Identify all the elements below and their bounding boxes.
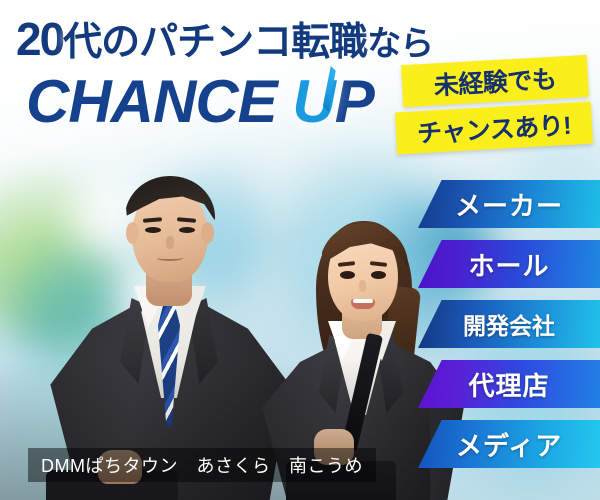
category-button-maker[interactable]: メーカー bbox=[418, 180, 600, 228]
headline-text: 20代のパチンコ転職なら bbox=[16, 16, 433, 62]
category-button-media[interactable]: メディア bbox=[418, 420, 600, 468]
logo-chance-up: CHANCE UP bbox=[26, 72, 374, 132]
badge-line-2: チャンスあり! bbox=[395, 102, 593, 155]
headline-suffix: なら bbox=[367, 25, 433, 63]
highlight-badge: 未経験でも チャンスあり! bbox=[396, 60, 592, 158]
headline-main: 代のパチンコ転職 bbox=[63, 21, 367, 64]
badge-line-1: 未経験でも bbox=[401, 55, 589, 107]
logo-letter-u: U bbox=[292, 72, 334, 132]
category-button-developer[interactable]: 開発会社 bbox=[418, 300, 600, 348]
credit-strip: DMMぱちタウン あさくら 南こうめ bbox=[28, 448, 376, 482]
logo-letter-p: P bbox=[335, 68, 374, 135]
headline-number: 20 bbox=[16, 13, 63, 65]
category-button-hall[interactable]: ホール bbox=[418, 240, 600, 288]
category-button-agency[interactable]: 代理店 bbox=[418, 360, 600, 408]
ad-banner[interactable]: 20代のパチンコ転職なら CHANCE UP 未経験でも チャンスあり! メーカ… bbox=[0, 0, 600, 500]
logo-word-chance: CHANCE bbox=[26, 68, 277, 135]
